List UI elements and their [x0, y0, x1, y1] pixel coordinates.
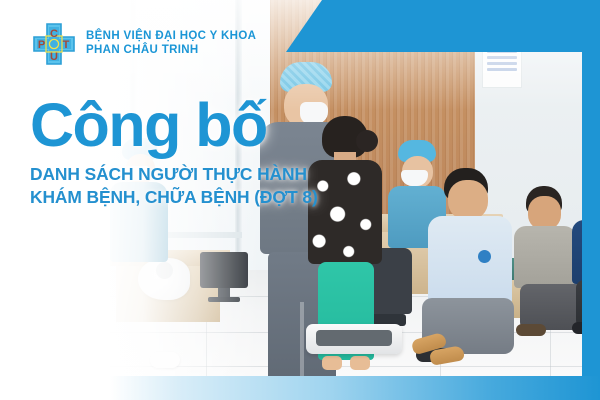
hospital-name: BỆNH VIỆN ĐẠI HỌC Y KHOA PHAN CHÂU TRINH — [86, 30, 256, 57]
shirt — [428, 216, 512, 304]
shirt-badge — [478, 250, 491, 263]
svg-text:P: P — [38, 39, 45, 51]
foot-right — [350, 356, 370, 370]
hospital-name-line2: PHAN CHÂU TRINH — [86, 44, 256, 58]
poster-canvas: C P T U BỆNH VIỆN ĐẠI HỌC Y KHOA PHAN CH… — [0, 0, 600, 400]
svg-text:U: U — [50, 51, 58, 63]
shirt — [514, 226, 576, 288]
headline-main: Công bố — [30, 96, 360, 155]
blue-right-edge-bar — [582, 0, 600, 378]
weighing-scale-platform — [316, 330, 392, 346]
medical-cross-logo-icon: C P T U — [32, 22, 76, 66]
headline-subtitle-line2: KHÁM BỆNH, CHỮA BỆNH (ĐỢT 8) — [30, 186, 360, 209]
seated-patient-blue-shirt — [428, 168, 524, 358]
blue-bottom-gradient-bar — [110, 376, 600, 400]
head — [448, 180, 488, 220]
svg-text:C: C — [50, 28, 58, 40]
sandal — [516, 324, 546, 336]
headline-subtitle-line1: DANH SÁCH NGƯỜI THỰC HÀNH — [30, 163, 360, 186]
svg-text:T: T — [63, 39, 70, 51]
hospital-name-line1: BỆNH VIỆN ĐẠI HỌC Y KHOA — [86, 30, 256, 44]
head — [528, 196, 561, 230]
headline-subtitle: DANH SÁCH NGƯỜI THỰC HÀNH KHÁM BỆNH, CHỮ… — [30, 163, 360, 209]
foot-left — [322, 356, 342, 370]
leg-separation — [300, 302, 304, 378]
brand-header: C P T U BỆNH VIỆN ĐẠI HỌC Y KHOA PHAN CH… — [32, 22, 256, 66]
headline-block: Công bố DANH SÁCH NGƯỜI THỰC HÀNH KHÁM B… — [30, 96, 360, 208]
